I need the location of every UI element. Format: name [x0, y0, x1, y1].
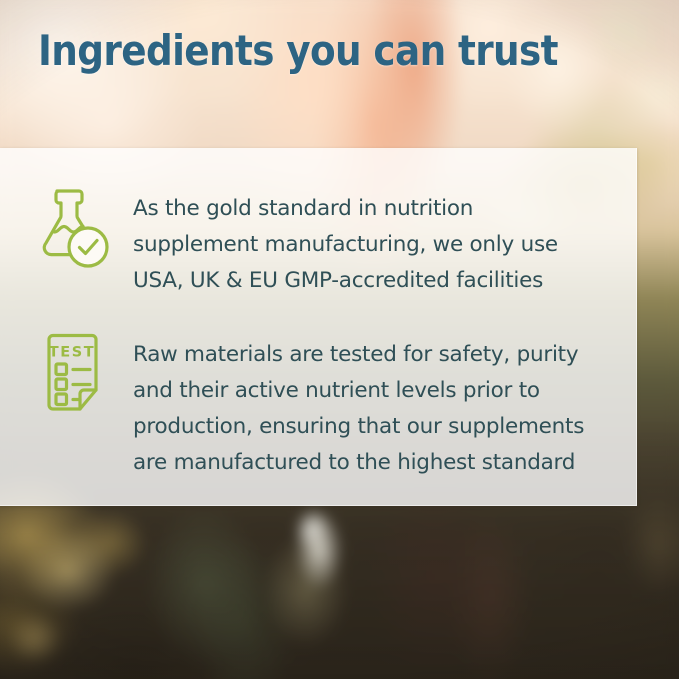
- feature-text-line: supplement manufacturing, we only use: [133, 227, 558, 263]
- page-title: Ingredients you can trust: [38, 29, 558, 74]
- feature-text-line: As the gold standard in nutrition: [133, 191, 558, 227]
- feature-text-line: USA, UK & EU GMP-accredited facilities: [133, 263, 558, 299]
- feature-text-line: production, ensuring that our supplement…: [133, 409, 584, 445]
- promo-banner: Ingredients you can trust As the gold st…: [0, 0, 679, 679]
- content-panel: As the gold standard in nutrition supple…: [0, 148, 637, 506]
- feature-item-manufacturing: As the gold standard in nutrition supple…: [38, 185, 558, 299]
- feature-item-testing: TEST Raw materials are tested for safety…: [38, 331, 584, 481]
- feature-text-line: are manufactured to the highest standard: [133, 445, 584, 481]
- feature-text-testing: Raw materials are tested for safety, pur…: [133, 331, 584, 481]
- test-document-icon: TEST: [38, 331, 110, 417]
- flask-check-icon: [38, 185, 110, 271]
- feature-text-line: and their active nutrient levels prior t…: [133, 373, 584, 409]
- feature-text-manufacturing: As the gold standard in nutrition supple…: [133, 185, 558, 299]
- test-document-label: TEST: [49, 345, 96, 361]
- feature-text-line: Raw materials are tested for safety, pur…: [133, 337, 584, 373]
